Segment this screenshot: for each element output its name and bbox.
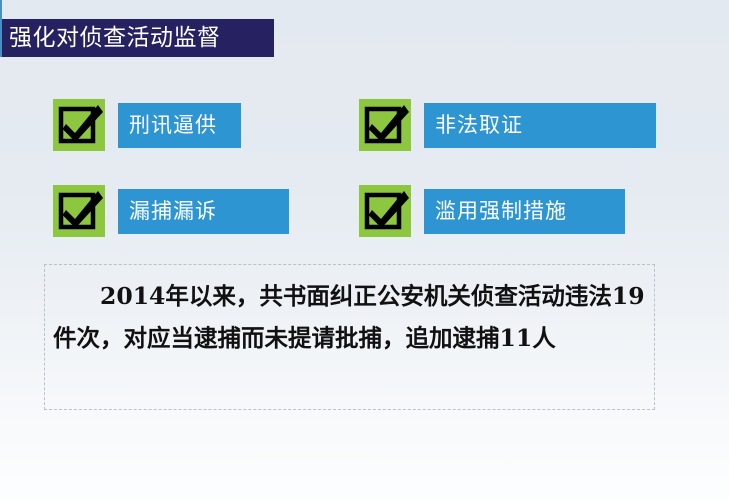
checked-checkbox-icon: [359, 99, 411, 151]
checklist-item-label: 刑讯逼供: [118, 103, 241, 148]
checklist-item[interactable]: 刑讯逼供: [53, 99, 241, 151]
summary-text-box: 2014年以来，共书面纠正公安机关侦查活动违法19件次，对应当逮捕而未提请批捕，…: [44, 264, 655, 410]
page-title: 强化对侦查活动监督: [9, 26, 221, 50]
slide-title-bar: 强化对侦查活动监督: [2, 19, 274, 57]
checked-checkbox-icon: [359, 185, 411, 237]
checklist-item[interactable]: 漏捕漏诉: [53, 185, 289, 237]
checklist-item[interactable]: 滥用强制措施: [359, 185, 625, 237]
checked-checkbox-icon: [53, 185, 105, 237]
checklist-item[interactable]: 非法取证: [359, 99, 656, 151]
checklist-item-label: 非法取证: [424, 103, 656, 148]
checklist-item-label: 滥用强制措施: [424, 189, 625, 234]
checked-checkbox-icon: [53, 99, 105, 151]
summary-paragraph: 2014年以来，共书面纠正公安机关侦查活动违法19件次，对应当逮捕而未提请批捕，…: [53, 275, 646, 359]
checklist-item-label: 漏捕漏诉: [118, 189, 289, 234]
slide-canvas: 强化对侦查活动监督 刑讯逼供 非法取证 漏捕漏诉: [0, 0, 729, 503]
